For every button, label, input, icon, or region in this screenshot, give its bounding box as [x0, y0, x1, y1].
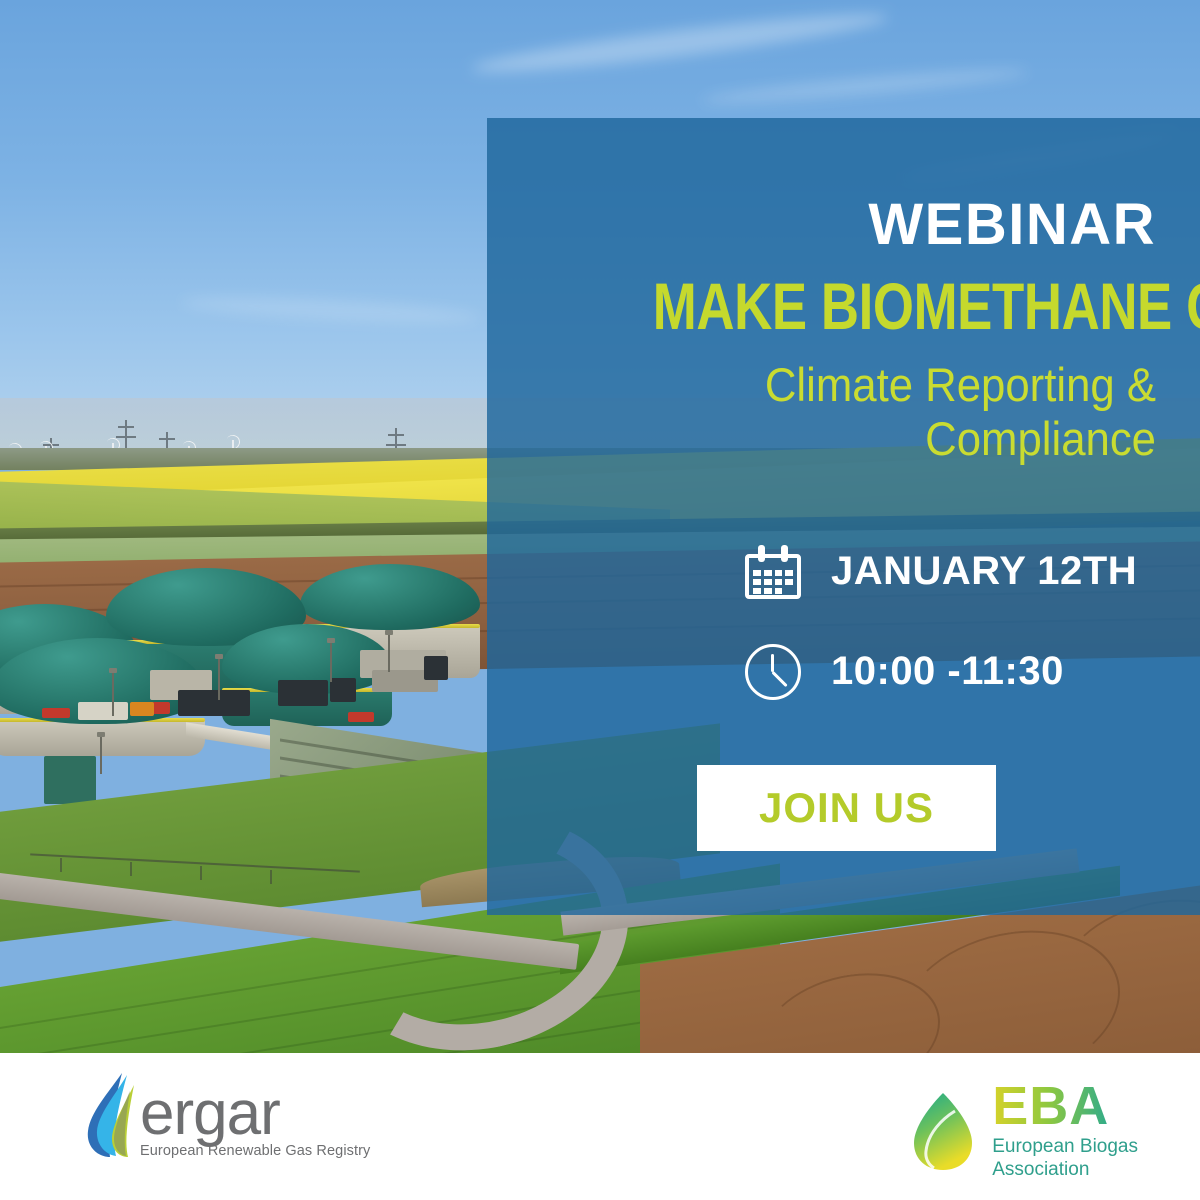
calendar-cell — [764, 570, 772, 576]
farm-vehicle — [42, 708, 70, 718]
subtitle-line-1: Climate Reporting & — [571, 358, 1156, 413]
page-title: MAKE BIOMETHANE COUNT — [653, 272, 1156, 342]
eyebrow-label: WEBINAR — [527, 196, 1156, 254]
webinar-promo-poster: WEBINAR MAKE BIOMETHANE COUNT Climate Re… — [0, 0, 1200, 1200]
light-mast — [218, 658, 220, 700]
control-cabin — [44, 756, 96, 804]
calendar-cell — [753, 570, 761, 576]
cta-area: JOIN US — [527, 765, 1156, 851]
fence-post — [270, 870, 272, 884]
chp-container — [278, 680, 328, 706]
eba-name: EBA — [992, 1081, 1138, 1132]
digester-tank-wall — [0, 720, 205, 756]
footer-logo-bar: ergar European Renewable Gas Registry — [0, 1053, 1200, 1200]
eba-subtitle: European Biogas Association — [992, 1136, 1138, 1181]
ergar-name: ergar — [140, 1085, 370, 1142]
farm-vehicle — [348, 712, 374, 722]
calendar-grid — [753, 570, 793, 594]
farm-loader — [130, 702, 154, 716]
calendar-cell — [775, 570, 783, 576]
time-row: 10:00 -11:30 — [745, 641, 1156, 703]
chp-container — [330, 678, 356, 702]
eba-subtitle-line-2: Association — [992, 1159, 1138, 1181]
date-row: JANUARY 12TH — [745, 541, 1156, 603]
calendar-cell — [753, 579, 761, 585]
chp-container — [178, 690, 250, 716]
calendar-cell — [764, 588, 772, 594]
event-date: JANUARY 12TH — [831, 549, 1137, 594]
eba-wordmark: EBA European Biogas Association — [992, 1081, 1138, 1181]
plant-container — [78, 702, 128, 720]
light-mast — [388, 634, 390, 672]
calendar-icon — [745, 545, 801, 599]
panel-content: WEBINAR MAKE BIOMETHANE COUNT Climate Re… — [487, 118, 1200, 915]
ergar-logo[interactable]: ergar European Renewable Gas Registry — [78, 1071, 370, 1159]
light-mast — [330, 642, 332, 682]
calendar-cell — [785, 579, 793, 585]
fence-post — [60, 858, 62, 872]
ergar-tagline: European Renewable Gas Registry — [140, 1143, 370, 1159]
plant-shed — [424, 656, 448, 680]
calendar-cell-empty — [785, 588, 793, 594]
subtitle: Climate Reporting & Compliance — [571, 358, 1156, 467]
join-us-button[interactable]: JOIN US — [697, 765, 996, 851]
subtitle-line-2: Compliance — [571, 412, 1156, 467]
ergar-wordmark: ergar European Renewable Gas Registry — [140, 1085, 370, 1159]
light-mast — [112, 672, 114, 716]
fence-post — [130, 862, 132, 876]
calendar-cell — [775, 579, 783, 585]
eba-subtitle-line-1: European Biogas — [992, 1136, 1138, 1158]
fence-post — [200, 866, 202, 880]
calendar-cell — [753, 588, 761, 594]
event-details: JANUARY 12TH 10:00 -11:30 — [527, 541, 1156, 703]
leaf-droplet-icon — [906, 1089, 980, 1173]
light-mast — [100, 736, 102, 774]
clock-icon — [745, 644, 801, 700]
calendar-cell — [785, 570, 793, 576]
farm-vehicle — [152, 702, 170, 714]
clock-hand-hour — [771, 654, 774, 672]
event-time: 10:00 -11:30 — [831, 649, 1064, 694]
calendar-cell — [775, 588, 783, 594]
content-overlay-panel: WEBINAR MAKE BIOMETHANE COUNT Climate Re… — [487, 118, 1200, 915]
calendar-cell — [764, 579, 772, 585]
eba-logo[interactable]: EBA European Biogas Association — [906, 1081, 1138, 1181]
digester-dome — [300, 564, 480, 630]
